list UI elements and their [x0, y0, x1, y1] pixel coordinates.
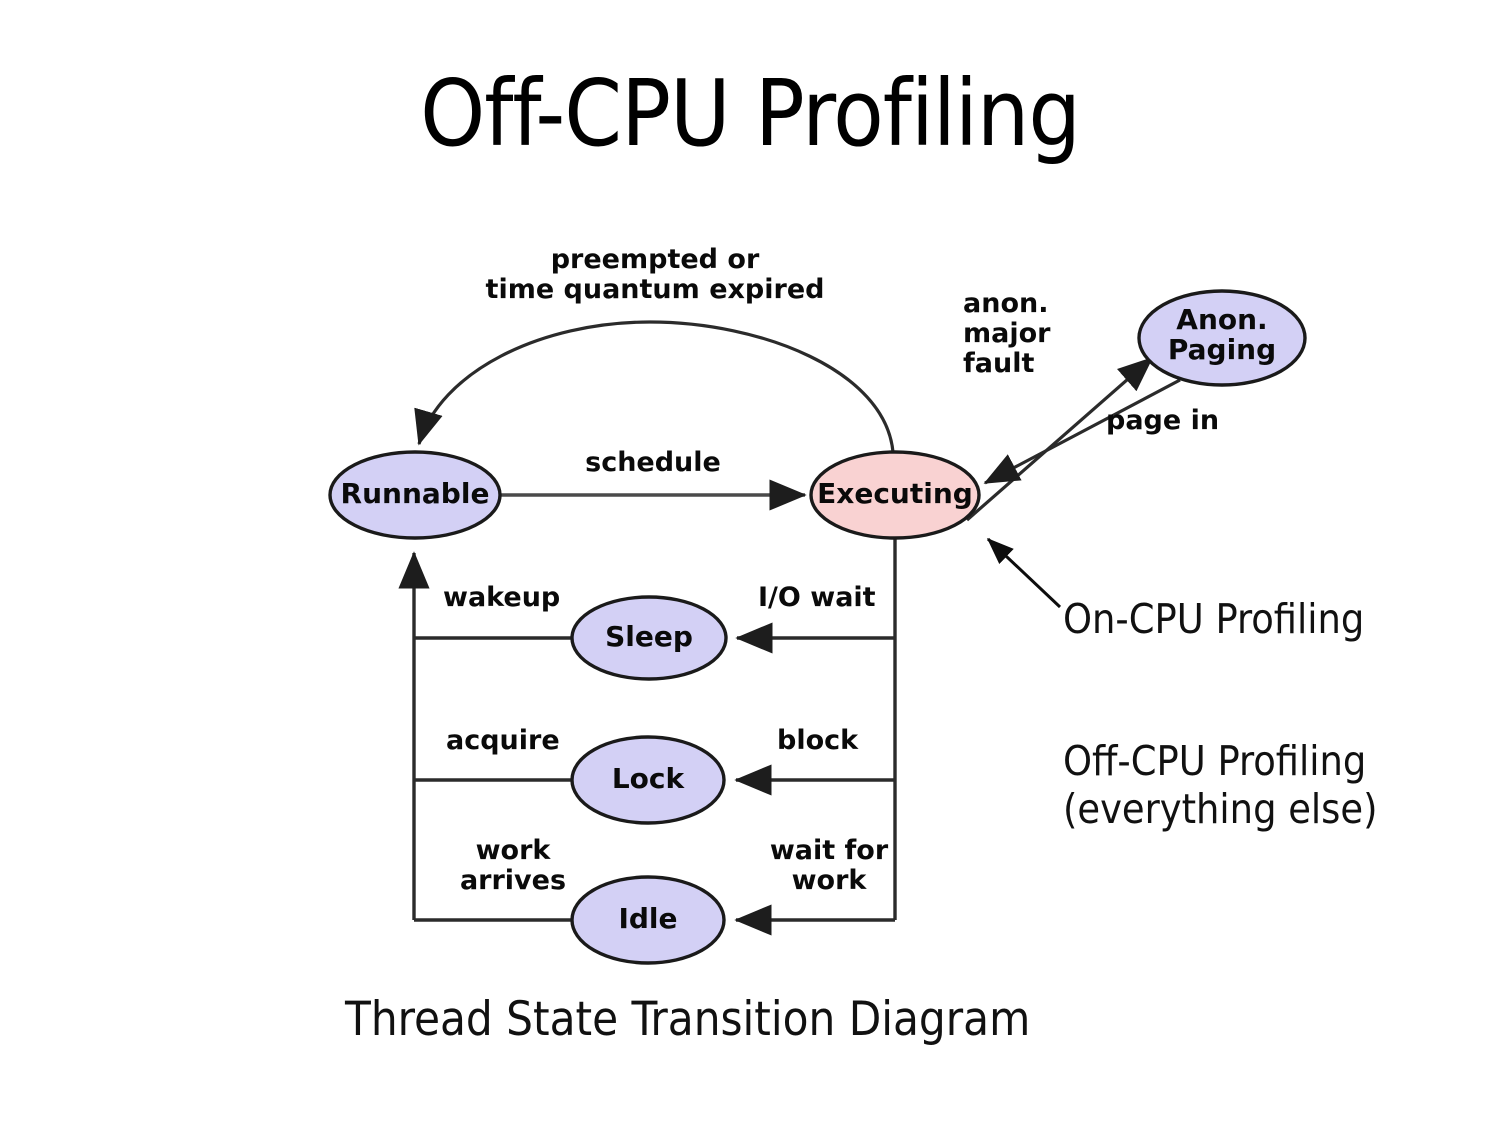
- node-executing[interactable]: [811, 452, 979, 538]
- node-label-idle: Idle: [548, 904, 748, 934]
- edge-label-io-wait: I/O wait: [758, 583, 958, 613]
- node-idle[interactable]: [572, 877, 724, 963]
- edge-label-work-arrives: work arrives: [433, 836, 593, 896]
- node-label-anon-paging: Anon.Paging: [1122, 305, 1322, 365]
- node-runnable[interactable]: [330, 452, 500, 538]
- node-anon-paging[interactable]: [1139, 291, 1305, 385]
- callout-pointer-arrow: [988, 539, 1060, 607]
- edge-label-wakeup: wakeup: [443, 583, 643, 613]
- edge-label-page-in: page in: [1106, 406, 1306, 436]
- diagram-canvas: [0, 0, 1500, 1125]
- edge-anon-major-fault: [967, 358, 1152, 520]
- node-label-runnable: Runnable: [315, 479, 515, 509]
- edge-preempted: [419, 322, 893, 452]
- annotation-on-cpu-profiling: On-CPU Profiling: [1063, 596, 1364, 644]
- edge-label-anon-major-fault: anon. major fault: [963, 289, 1133, 380]
- thread-state-transition-diagram: Runnable Executing Anon.Paging Sleep Loc…: [0, 0, 1500, 1125]
- annotation-off-cpu-profiling: Off-CPU Profiling (everything else): [1063, 738, 1377, 833]
- edge-label-schedule: schedule: [508, 448, 798, 478]
- edge-label-acquire: acquire: [446, 726, 646, 756]
- edge-label-block: block: [777, 726, 977, 756]
- node-label-executing: Executing: [795, 479, 995, 509]
- node-label-sleep: Sleep: [549, 622, 749, 652]
- node-label-lock: Lock: [548, 764, 748, 794]
- anon-paging-line1: Anon.: [1176, 303, 1267, 336]
- edge-label-wait-for-work: wait for work: [742, 836, 916, 896]
- diagram-caption: Thread State Transition Diagram: [345, 992, 1030, 1047]
- anon-paging-line2: Paging: [1168, 333, 1276, 366]
- edge-label-preempted: preempted or time quantum expired: [430, 245, 880, 305]
